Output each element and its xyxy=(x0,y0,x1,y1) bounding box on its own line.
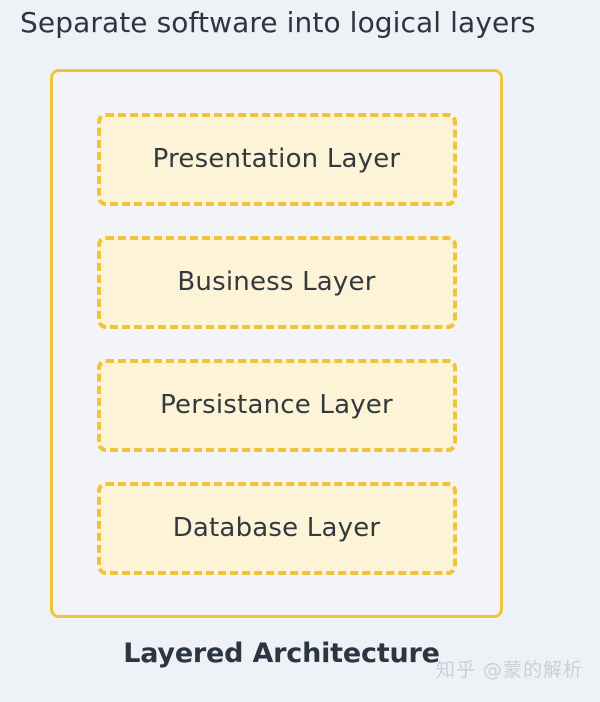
layer-label-presentation: Presentation Layer xyxy=(153,144,401,174)
layer-box-database: Database Layer xyxy=(97,482,457,575)
layer-label-database: Database Layer xyxy=(173,513,381,543)
layer-box-business: Business Layer xyxy=(97,236,457,329)
layer-label-business: Business Layer xyxy=(177,267,375,297)
layered-architecture-container: Presentation Layer Business Layer Persis… xyxy=(50,69,503,618)
layer-label-persistance: Persistance Layer xyxy=(160,390,393,420)
watermark: 知乎 @蒙的解析 xyxy=(436,655,583,682)
diagram-page: Separate software into logical layers Pr… xyxy=(0,0,600,702)
layer-box-presentation: Presentation Layer xyxy=(97,113,457,206)
page-title: Separate software into logical layers xyxy=(20,6,536,39)
layer-box-persistance: Persistance Layer xyxy=(97,359,457,452)
